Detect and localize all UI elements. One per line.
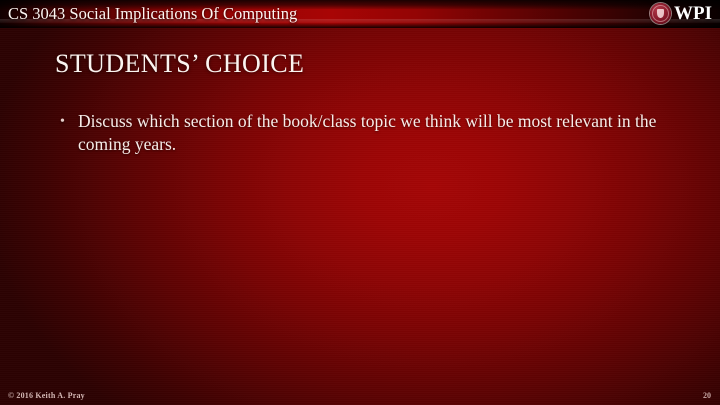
bullet-icon: • xyxy=(60,110,65,133)
wpi-wordmark: WPI xyxy=(674,3,712,24)
footer-copyright: © 2016 Keith A. Pray xyxy=(8,391,85,401)
slide-body-list: • Discuss which section of the book/clas… xyxy=(58,110,658,156)
slide-header-bar: CS 3043 Social Implications Of Computing… xyxy=(0,0,720,28)
course-title: CS 3043 Social Implications Of Computing xyxy=(8,3,297,24)
slide-title: STUDENTS’ CHOICE xyxy=(55,48,304,80)
wpi-seal-ring xyxy=(652,5,669,22)
list-item: • Discuss which section of the book/clas… xyxy=(58,110,658,156)
list-item-text: Discuss which section of the book/class … xyxy=(78,111,656,154)
wpi-shield-icon xyxy=(657,9,664,18)
presentation-slide: CS 3043 Social Implications Of Computing… xyxy=(0,0,720,405)
wpi-logo: WPI xyxy=(650,1,712,26)
wpi-seal-icon xyxy=(650,3,671,24)
footer-page-number: 20 xyxy=(703,391,711,401)
